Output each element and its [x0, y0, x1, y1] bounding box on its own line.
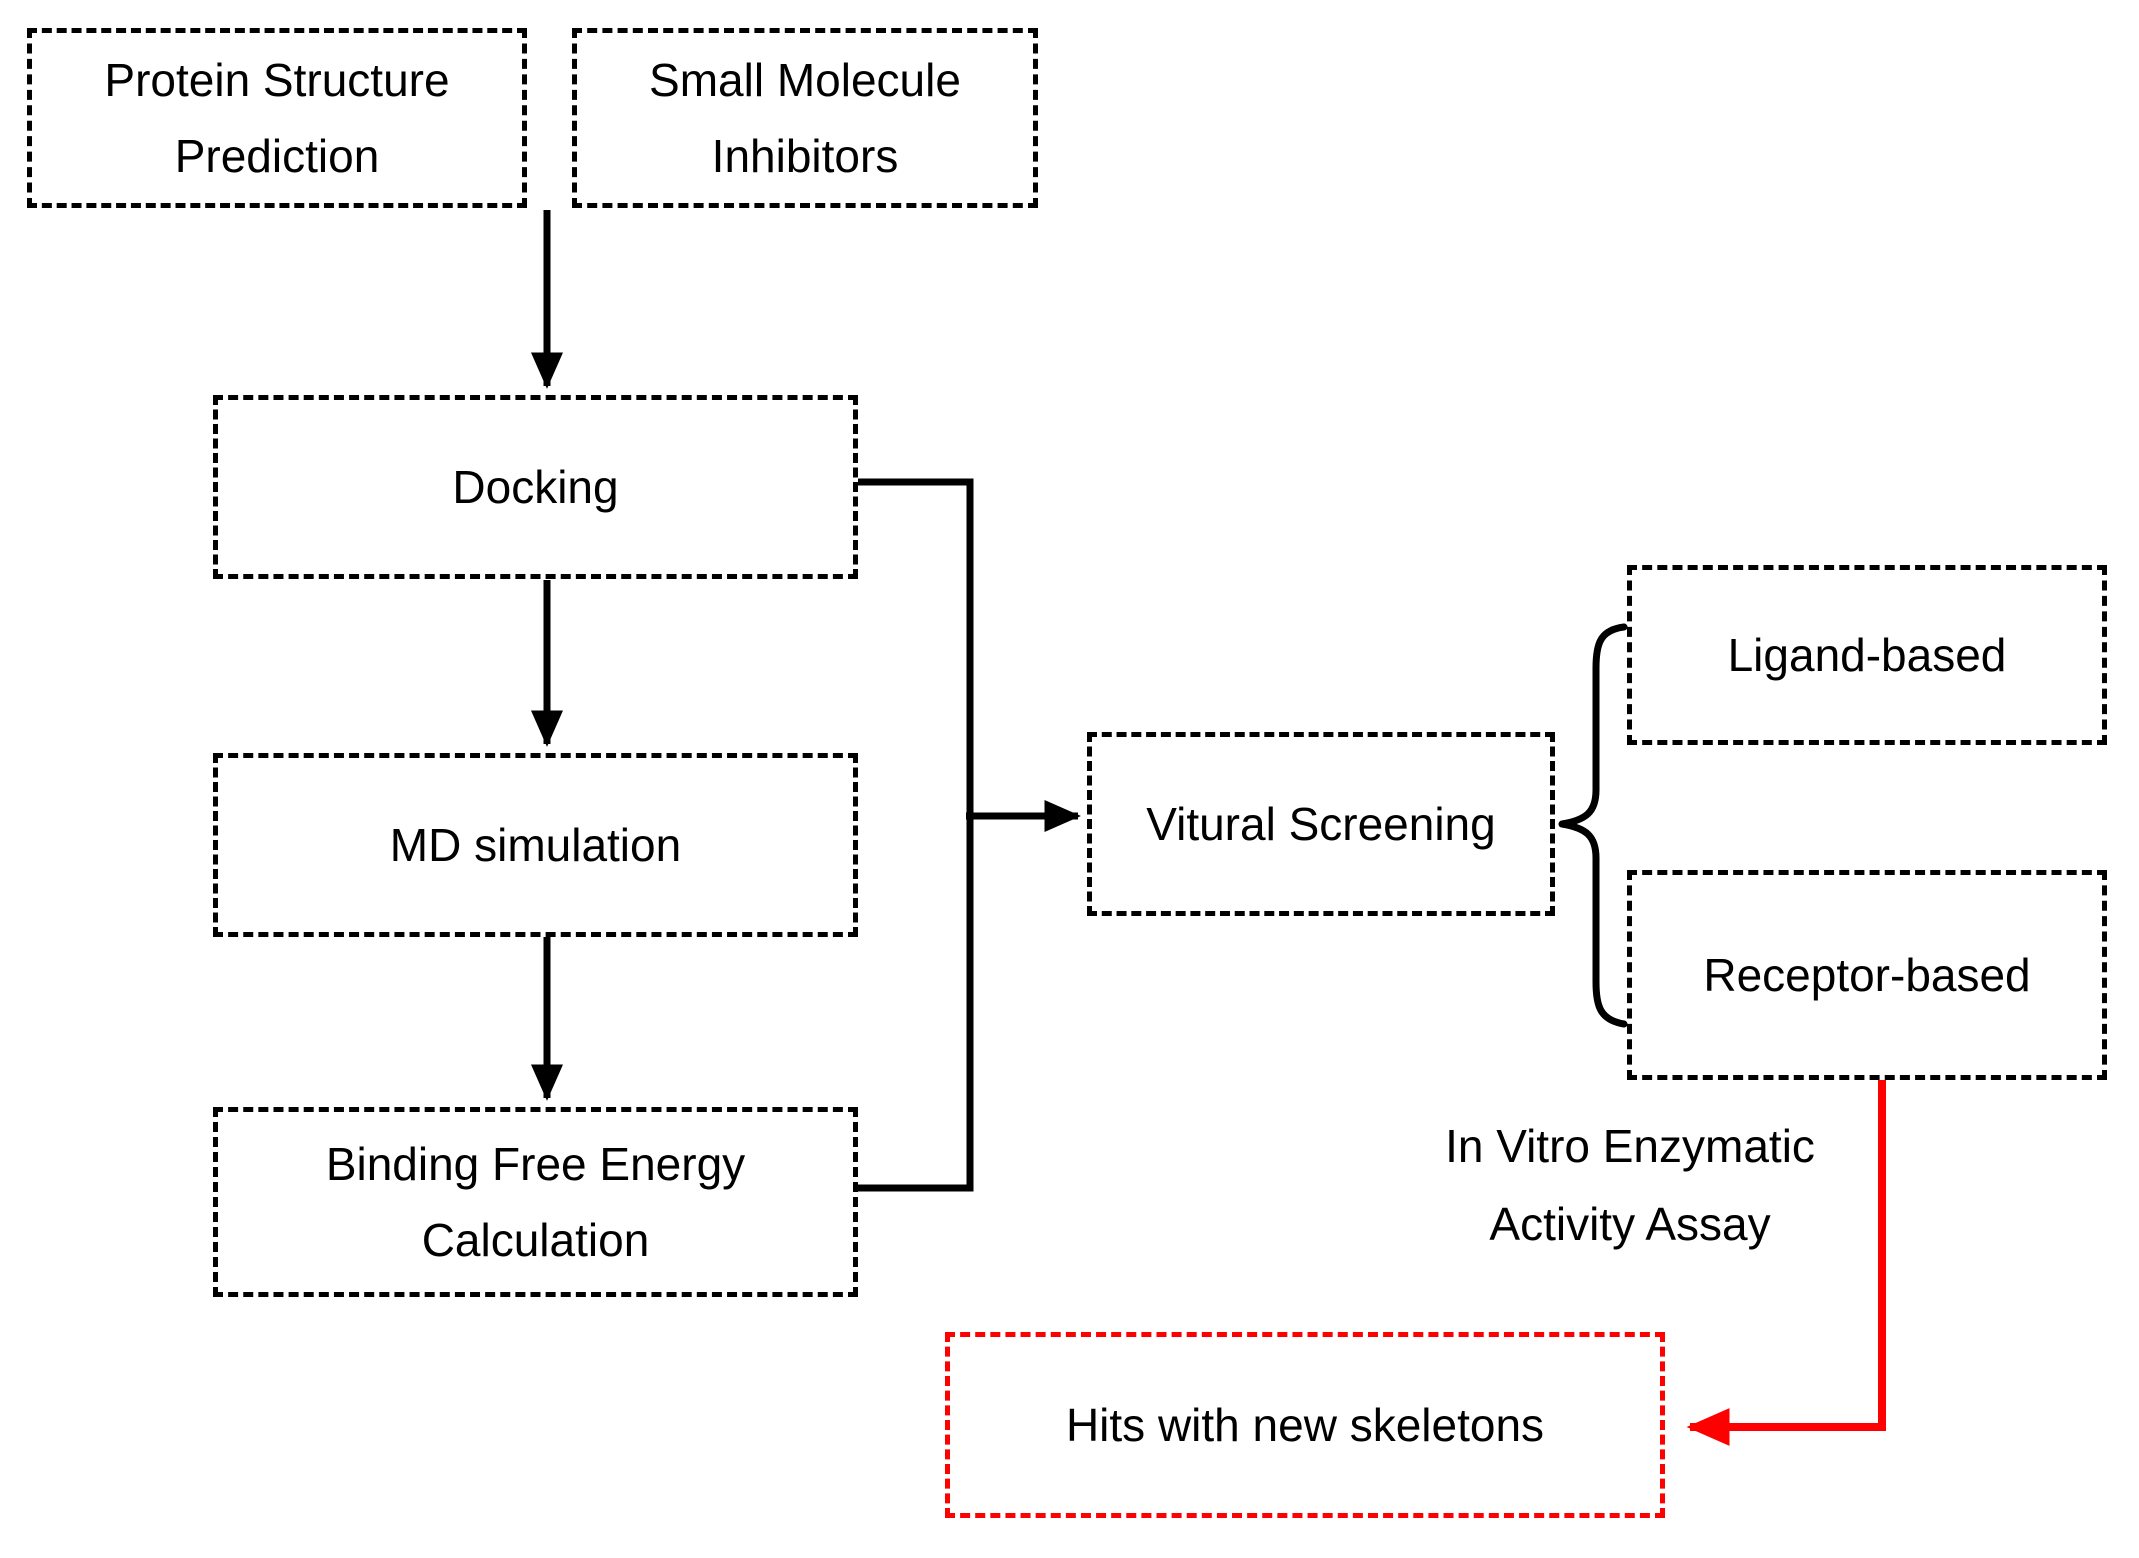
node-label-line2: Prediction	[175, 132, 380, 180]
node-hits-with-new-skeletons[interactable]: Hits with new skeletons	[945, 1332, 1665, 1518]
node-small-molecule-inhibitors[interactable]: Small Molecule Inhibitors	[572, 28, 1038, 208]
node-virtual-screening[interactable]: Vitural Screening	[1087, 732, 1555, 916]
annotation-line2: Activity Assay	[1360, 1200, 1900, 1248]
edge-binding-to-virtual-screening	[858, 816, 970, 1188]
node-label-line1: Hits with new skeletons	[1066, 1401, 1544, 1449]
node-label-line1: Docking	[452, 463, 618, 511]
node-ligand-based[interactable]: Ligand-based	[1627, 565, 2107, 745]
annotation-line1: In Vitro Enzymatic	[1360, 1122, 1900, 1170]
flowchart-canvas: Protein Structure Prediction Small Molec…	[0, 0, 2139, 1558]
edge-docking-to-virtual-screening	[858, 482, 970, 816]
node-label-line1: Ligand-based	[1728, 631, 2007, 679]
node-label-line1: Vitural Screening	[1146, 800, 1495, 848]
annotation-in-vitro-enzymatic-activity-assay: In Vitro Enzymatic Activity Assay	[1360, 1122, 1900, 1249]
node-label-line1: Binding Free Energy	[326, 1140, 745, 1188]
node-receptor-based[interactable]: Receptor-based	[1627, 870, 2107, 1080]
node-binding-free-energy-calculation[interactable]: Binding Free Energy Calculation	[213, 1107, 858, 1297]
node-label-line1: Receptor-based	[1703, 951, 2030, 999]
node-label-line2: Inhibitors	[712, 132, 899, 180]
node-label-line1: Small Molecule	[649, 56, 961, 104]
brace-virtual-screening-branches	[1562, 627, 1624, 1024]
node-docking[interactable]: Docking	[213, 395, 858, 579]
node-label-line1: MD simulation	[390, 821, 681, 869]
node-protein-structure-prediction[interactable]: Protein Structure Prediction	[27, 28, 527, 208]
node-md-simulation[interactable]: MD simulation	[213, 753, 858, 937]
node-label-line2: Calculation	[422, 1216, 650, 1264]
node-label-line1: Protein Structure	[104, 56, 449, 104]
